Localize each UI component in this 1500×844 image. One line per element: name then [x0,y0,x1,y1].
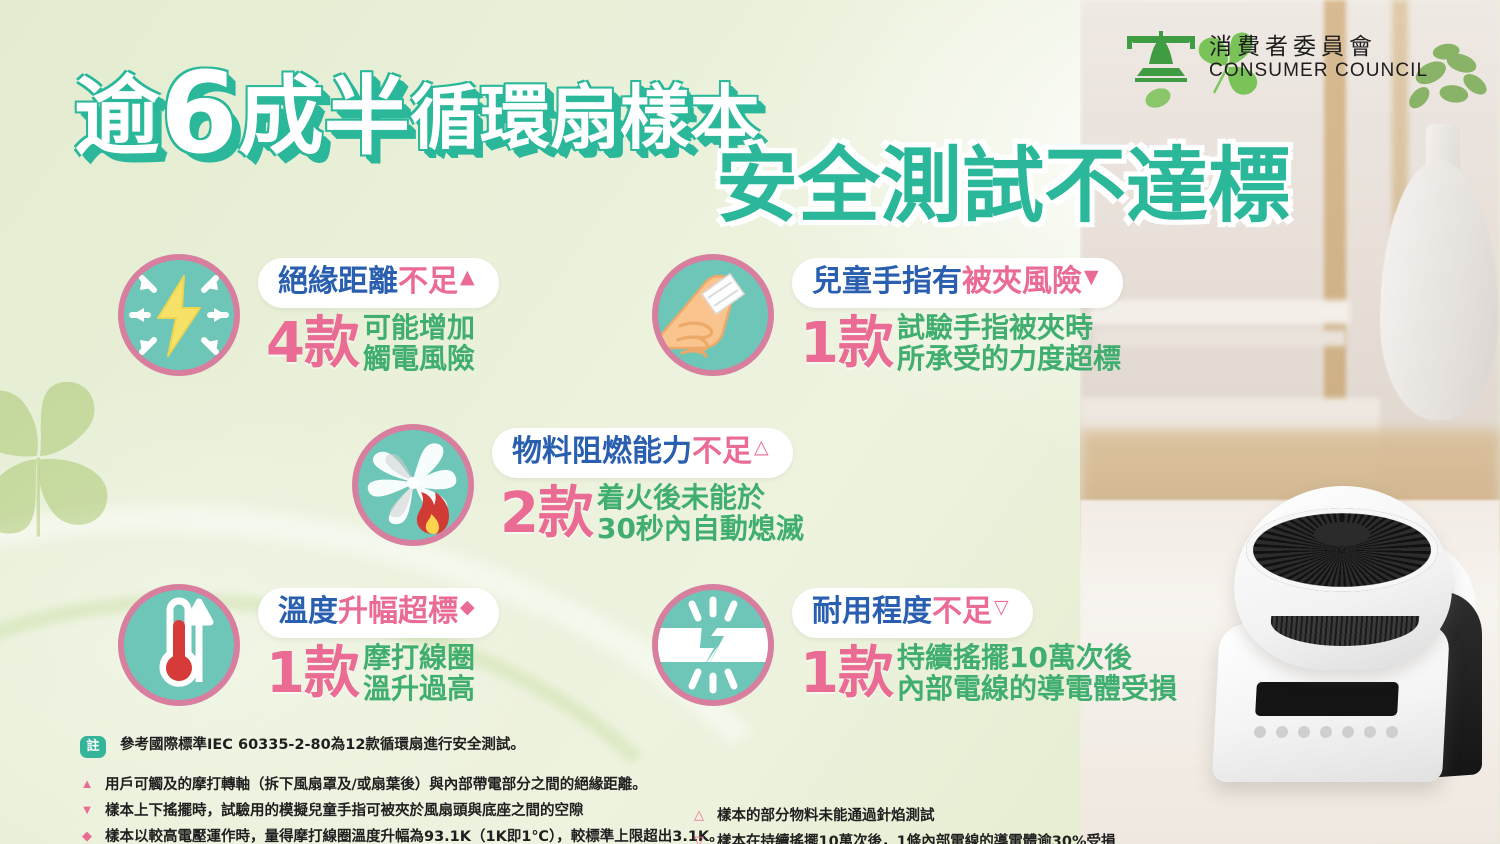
logo-name-cn: 消費者委員會 [1209,34,1428,60]
count-number: 1 [800,641,838,706]
desc-line-2: 所承受的力度超標 [897,343,1121,375]
note-badge: 註 [80,736,106,758]
desc-line-2: 溫升過高 [363,673,475,705]
footnote-text: 樣本在持續搖擺10萬次後，1條內部電線的導電體逾30%受損 [717,832,1115,844]
clover-leaf-icon [0,372,124,540]
count-number: 4 [266,311,304,376]
footnote-marker: ▼ [1084,266,1099,288]
finding-heading: 耐用程度不足▽ [792,588,1033,638]
footnote-item: △ 樣本的部分物料未能通過針焰測試 [692,806,1115,827]
heading-blue-text: 物料阻燃能力 [512,434,692,469]
thermometer-rising-icon [118,584,240,706]
finding-heading: 絕緣距離不足▲ [258,258,499,308]
footnote-text: 用戶可觸及的摩打轉軸（拆下風扇罩及/或扇葉後）與內部帶電部分之間的絕緣距離。 [105,775,647,796]
fan-blade-flame-icon [352,424,474,546]
finding-block-finger: 兒童手指有被夾風險▼ 1款 試驗手指被夾時 所承受的力度超標 [652,254,1123,376]
headline-line-1: 逾6成半循環扇樣本 [74,58,760,170]
desc-line-1: 持續搖擺10萬次後 [897,642,1177,674]
footnote-item: ▼ 樣本上下搖擺時，試驗用的模擬兒童手指可被夾於風扇頭與底座之間的空隙 [80,801,640,822]
footnote-item: ▽ 樣本在持續搖擺10萬次後，1條內部電線的導電體逾30%受損 [692,832,1115,844]
finding-description: 可能增加 觸電風險 [363,312,475,376]
desc-line-1: 摩打線圈 [363,642,475,674]
footnote-marker: ▲ [80,775,94,794]
heading-pink-text: 被夾風險 [962,264,1082,299]
finding-block-durability: 耐用程度不足▽ 1款 持續搖擺10萬次後 內部電線的導電體受損 [652,584,1177,706]
finding-count: 1款 [800,647,893,700]
footnote-text: 樣本的部分物料未能通過針焰測試 [717,806,935,827]
broken-wire-icon [652,584,774,706]
finding-block-temperature: 溫度升幅超標◆ 1款 摩打線圈 溫升過高 [118,584,499,706]
footnote-marker: ▽ [994,596,1009,618]
desc-line-2: 內部電線的導電體受損 [897,673,1177,705]
desc-line-2: 30秒內自動熄滅 [597,513,804,545]
finding-description: 試驗手指被夾時 所承受的力度超標 [897,312,1121,376]
footnote-marker: △ [692,806,706,825]
finding-count: 1款 [800,317,893,370]
footnote-item: ◆ 樣本以較高電壓運作時，量得摩打線圈溫度升幅為93.1K（1K即1℃），較標準… [80,827,640,844]
heading-pink-text: 升幅超標 [338,594,458,629]
lightning-bolt-icon [118,254,240,376]
footnote-marker: ◆ [460,596,475,618]
footnote-marker: ▼ [80,801,94,820]
footnote-marker: ◆ [80,827,94,844]
logo-name-en: CONSUMER COUNCIL [1209,60,1428,83]
desc-line-2: 觸電風險 [363,343,475,375]
count-number: 2 [500,481,538,546]
footnote-text: 樣本上下搖擺時，試驗用的模擬兒童手指可被夾於風扇頭與底座之間的空隙 [105,801,584,822]
consumer-council-logo: 消費者委員會 CONSUMER COUNCIL [1125,28,1428,89]
heading-blue-text: 溫度 [278,594,338,629]
finding-heading: 兒童手指有被夾風險▼ [792,258,1123,308]
footnote-item: ▲ 用戶可觸及的摩打轉軸（拆下風扇罩及/或扇葉後）與內部帶電部分之間的絕緣距離。 [80,775,640,796]
heading-pink-text: 不足 [692,434,752,469]
finding-block-flame: 物料阻燃能力不足△ 2款 着火後未能於 30秒內自動熄滅 [352,424,804,546]
finding-count: 1款 [266,647,359,700]
desc-line-1: 可能增加 [363,312,475,344]
headline-line-2: 安全測試不達標 [716,146,1290,228]
finding-heading: 溫度升幅超標◆ [258,588,499,638]
footnote-marker: ▽ [692,832,706,844]
footnotes: 註 參考國際標準IEC 60335-2-80為12款循環扇進行安全測試。 ▲ 用… [80,736,1240,844]
note-headline: 參考國際標準IEC 60335-2-80為12款循環扇進行安全測試。 [120,736,525,755]
finding-count: 4款 [266,317,359,370]
bandaged-finger-icon [652,254,774,376]
finding-count: 2款 [500,487,593,540]
count-number: 1 [266,641,304,706]
headline-half: 半 [324,67,410,167]
count-unit: 款 [304,311,359,376]
footnote-text: 樣本以較高電壓運作時，量得摩打線圈溫度升幅為93.1K（1K即1℃），較標準上限… [105,827,724,844]
finding-description: 持續搖擺10萬次後 內部電線的導電體受損 [897,642,1177,706]
product-photo [1080,0,1500,844]
finding-description: 摩打線圈 溫升過高 [363,642,475,706]
finding-description: 着火後未能於 30秒內自動熄滅 [597,482,804,546]
count-unit: 款 [538,481,593,546]
desc-line-1: 試驗手指被夾時 [897,312,1121,344]
finding-block-insulation: 絕緣距離不足▲ 4款 可能增加 觸電風險 [118,254,499,376]
footnote-marker: ▲ [460,266,475,288]
heading-pink-text: 不足 [932,594,992,629]
desc-line-1: 着火後未能於 [597,482,804,514]
balance-scale-icon [1125,28,1197,89]
headline-unit: 成 [238,67,324,167]
heading-blue-text: 兒童手指有 [812,264,962,299]
headline-subject: 循環扇樣本 [410,77,760,159]
count-unit: 款 [304,641,359,706]
count-unit: 款 [838,641,893,706]
count-number: 1 [800,311,838,376]
heading-pink-text: 不足 [398,264,458,299]
heading-blue-text: 耐用程度 [812,594,932,629]
footnote-marker: △ [754,436,769,458]
headline-prefix: 逾 [74,67,160,167]
count-unit: 款 [838,311,893,376]
poster-canvas: 消費者委員會 CONSUMER COUNCIL 逾6成半循環扇樣本 安全測試不達… [0,0,1500,844]
headline-number: 6 [160,49,238,179]
finding-heading: 物料阻燃能力不足△ [492,428,793,478]
heading-blue-text: 絕緣距離 [278,264,398,299]
